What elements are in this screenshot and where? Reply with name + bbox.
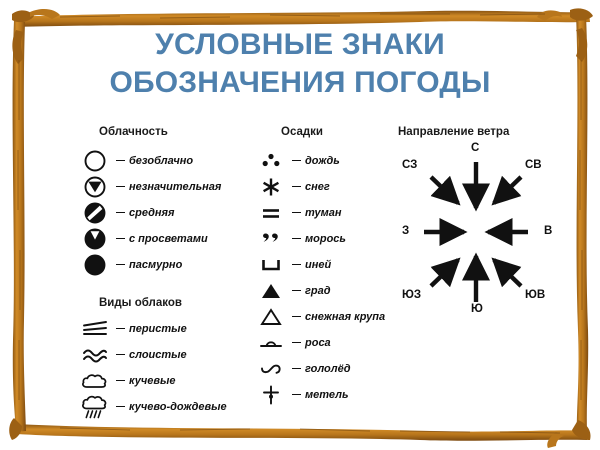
legend-row: роса [252, 330, 385, 356]
cumulus-cloud-icon [76, 371, 114, 391]
legend-row: кучевые [76, 368, 227, 394]
legend-label: незначительная [116, 181, 221, 193]
em-dash [292, 342, 301, 343]
em-dash [116, 212, 125, 213]
rain-dots-icon [252, 151, 290, 171]
dew-arc-icon [252, 335, 290, 351]
em-dash [116, 380, 125, 381]
em-dash [292, 368, 301, 369]
em-dash [116, 406, 125, 407]
cloud-types-legend-list: перистыеслоистыекучевыекучево-дождевые [76, 316, 227, 420]
compass-label-west: З [402, 225, 409, 237]
em-dash [116, 186, 125, 187]
legend-label: гололёд [292, 363, 351, 375]
section-heading-cloud-types: Виды облаков [99, 297, 182, 309]
compass-label-northeast: СВ [525, 159, 542, 171]
circle-half-diagonal [76, 201, 114, 225]
em-dash [292, 290, 301, 291]
legend-label: кучево-дождевые [116, 401, 227, 413]
cloudiness-legend-list: безоблачнонезначительнаясредняяс просвет… [76, 148, 221, 278]
glaze-ice-curve-icon [252, 360, 290, 378]
em-dash [292, 186, 301, 187]
page-title: УСЛОВНЫЕ ЗНАКИ ОБОЗНАЧЕНИЯ ПОГОДЫ [0, 26, 600, 102]
title-line-2: ОБОЗНАЧЕНИЯ ПОГОДЫ [0, 64, 600, 102]
fog-bars-icon [252, 204, 290, 222]
legend-row: гололёд [252, 356, 385, 382]
legend-row: морось [252, 226, 385, 252]
blizzard-cross-icon [252, 384, 290, 406]
weather-symbols-poster: УСЛОВНЫЕ ЗНАКИ ОБОЗНАЧЕНИЯ ПОГОДЫ Облачн… [0, 0, 600, 450]
legend-row: безоблачно [76, 148, 221, 174]
hail-filled-triangle-icon [252, 281, 290, 301]
compass-label-southwest: ЮЗ [402, 289, 421, 301]
legend-label: с просветами [116, 233, 208, 245]
legend-row: град [252, 278, 385, 304]
section-heading-wind-direction: Направление ветра [398, 126, 509, 138]
legend-label: метель [292, 389, 349, 401]
section-heading-precipitation: Осадки [281, 126, 323, 138]
legend-label: туман [292, 207, 342, 219]
legend-row: пасмурно [76, 252, 221, 278]
snow-asterisk-icon [252, 176, 290, 198]
legend-label: перистые [116, 323, 187, 335]
legend-row: снежная крупа [252, 304, 385, 330]
em-dash [292, 264, 301, 265]
title-line-1: УСЛОВНЫЕ ЗНАКИ [155, 28, 445, 61]
legend-label: кучевые [116, 375, 176, 387]
arrow-southwest [431, 260, 458, 286]
compass-label-east: В [544, 225, 552, 237]
legend-label: слоистые [116, 349, 187, 361]
cirrus-lines-icon [76, 319, 114, 339]
em-dash [116, 160, 125, 161]
legend-label: иней [292, 259, 331, 271]
circle-filled-white-wedge [76, 227, 114, 251]
legend-row: кучево-дождевые [76, 394, 227, 420]
arrow-southeast [494, 260, 521, 286]
em-dash [292, 160, 301, 161]
legend-row: средняя [76, 200, 221, 226]
em-dash [292, 212, 301, 213]
legend-row: с просветами [76, 226, 221, 252]
drizzle-commas-icon [252, 229, 290, 249]
snow-pellets-triangle-icon [252, 307, 290, 327]
em-dash [116, 238, 125, 239]
em-dash [292, 238, 301, 239]
compass-label-north: С [471, 142, 479, 154]
legend-label: морось [292, 233, 346, 245]
section-heading-cloudiness: Облачность [99, 126, 168, 138]
circle-filled [76, 253, 114, 277]
compass-label-southeast: ЮВ [525, 289, 545, 301]
legend-label: средняя [116, 207, 175, 219]
legend-label: роса [292, 337, 331, 349]
legend-row: туман [252, 200, 385, 226]
wind-direction-compass: С СВ В ЮВ Ю ЮЗ З СЗ [378, 146, 574, 314]
circle-wedge-small [76, 175, 114, 199]
compass-label-northwest: СЗ [402, 159, 417, 171]
legend-row: снег [252, 174, 385, 200]
em-dash [116, 264, 125, 265]
precipitation-legend-list: дождьснегтуманморосьинейградснежная круп… [252, 148, 385, 408]
legend-label: безоблачно [116, 155, 193, 167]
stratus-waves-icon [76, 345, 114, 365]
compass-label-south: Ю [471, 303, 483, 315]
legend-row: перистые [76, 316, 227, 342]
legend-label: снег [292, 181, 330, 193]
frost-bracket-icon [252, 256, 290, 274]
em-dash [116, 328, 125, 329]
legend-label: град [292, 285, 331, 297]
legend-row: метель [252, 382, 385, 408]
legend-row: незначительная [76, 174, 221, 200]
arrow-northwest [431, 177, 458, 203]
legend-label: снежная крупа [292, 311, 385, 323]
legend-label: дождь [292, 155, 340, 167]
em-dash [292, 394, 301, 395]
cumulonimbus-cloud-rain-icon [76, 394, 114, 420]
legend-row: иней [252, 252, 385, 278]
legend-label: пасмурно [116, 259, 182, 271]
legend-row: дождь [252, 148, 385, 174]
em-dash [292, 316, 301, 317]
arrow-northeast [494, 177, 521, 203]
circle-empty [76, 149, 114, 173]
em-dash [116, 354, 125, 355]
legend-row: слоистые [76, 342, 227, 368]
